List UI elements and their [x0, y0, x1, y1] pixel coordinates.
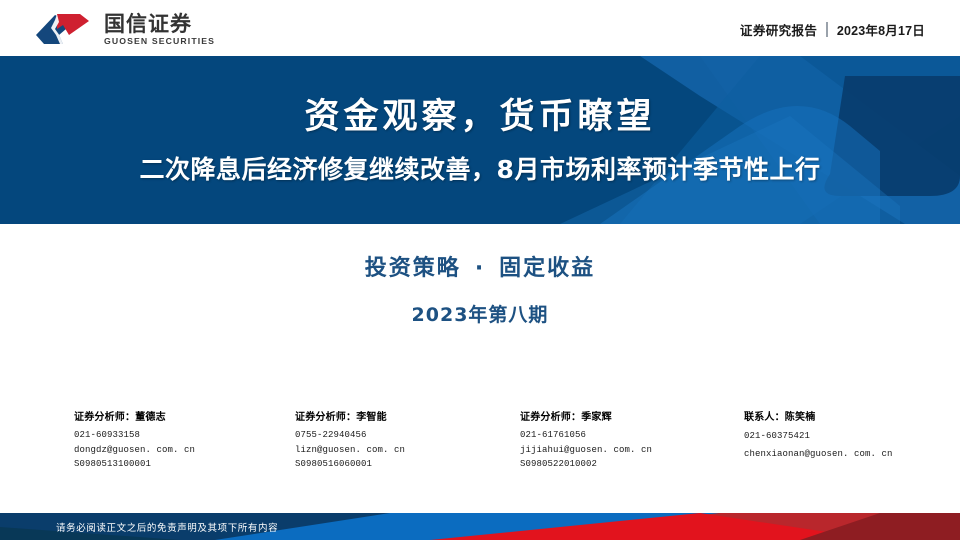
analyst-phone: 021-60933158: [74, 428, 195, 443]
analyst-name: 证券分析师：董德志: [74, 410, 195, 426]
brand-logo: 国信证券 GUOSEN SECURITIES: [33, 11, 213, 47]
report-type-label: 证券研究报告: [740, 20, 817, 39]
report-title: 资金观察，货币瞭望: [304, 98, 655, 137]
footer-disclaimer: 请务必阅读正文之后的免责声明及其项下所有内容: [56, 513, 278, 540]
brand-logo-text: 国信证券 GUOSEN SECURITIES: [104, 13, 213, 46]
contact-block: 证券分析师：季家辉 021-61761056 jijiahui@guosen. …: [520, 410, 652, 472]
report-date: 2023年8月17日: [837, 20, 925, 39]
title-banner: 资金观察，货币瞭望 二次降息后经济修复继续改善，8月市场利率预计季节性上行: [0, 56, 960, 224]
analyst-phone: 0755-22940456: [295, 428, 405, 443]
report-category-block: 投资策略·固定收益 2023年第八期: [0, 224, 960, 327]
category-right: 固定收益: [499, 256, 595, 281]
contact-person-phone: 021-60375421: [744, 429, 893, 444]
contact-person-email[interactable]: chenxiaonan@guosen. com. cn: [744, 447, 893, 462]
contact-block: 证券分析师：李智能 0755-22940456 lizn@guosen. com…: [295, 410, 405, 472]
contact-block: 证券分析师：董德志 021-60933158 dongdz@guosen. co…: [74, 410, 195, 472]
analyst-license: S0980513100001: [74, 457, 195, 472]
report-subtitle: 二次降息后经济修复继续改善，8月市场利率预计季节性上行: [140, 150, 821, 186]
guosen-logo-icon: [33, 11, 95, 47]
analyst-license: S0980516060001: [295, 457, 405, 472]
analyst-name: 证券分析师：李智能: [295, 410, 405, 426]
report-category: 投资策略·固定收益: [0, 250, 960, 282]
report-issue: 2023年第八期: [0, 300, 960, 327]
page-footer: 请务必阅读正文之后的免责声明及其项下所有内容: [0, 513, 960, 540]
banner-title-group: 资金观察，货币瞭望 二次降息后经济修复继续改善，8月市场利率预计季节性上行: [0, 56, 960, 224]
contact-person-name: 联系人：陈笑楠: [744, 410, 893, 426]
category-dot: ·: [475, 256, 485, 281]
analyst-name: 证券分析师：季家辉: [520, 410, 652, 426]
analyst-phone: 021-61761056: [520, 428, 652, 443]
analyst-license: S0980522010002: [520, 457, 652, 472]
analyst-contacts: 证券分析师：董德志 021-60933158 dongdz@guosen. co…: [0, 410, 960, 490]
analyst-email[interactable]: jijiahui@guosen. com. cn: [520, 443, 652, 458]
header-meta: 证券研究报告 2023年8月17日: [740, 20, 925, 39]
analyst-email[interactable]: lizn@guosen. com. cn: [295, 443, 405, 458]
analyst-email[interactable]: dongdz@guosen. com. cn: [74, 443, 195, 458]
contact-block: 联系人：陈笑楠 021-60375421 chenxiaonan@guosen.…: [744, 410, 893, 461]
page-header: 国信证券 GUOSEN SECURITIES 证券研究报告 2023年8月17日: [0, 0, 960, 56]
header-divider: [826, 22, 828, 37]
brand-name-cn: 国信证券: [104, 13, 213, 35]
category-left: 投资策略: [365, 256, 461, 281]
brand-name-en: GUOSEN SECURITIES: [104, 37, 215, 46]
